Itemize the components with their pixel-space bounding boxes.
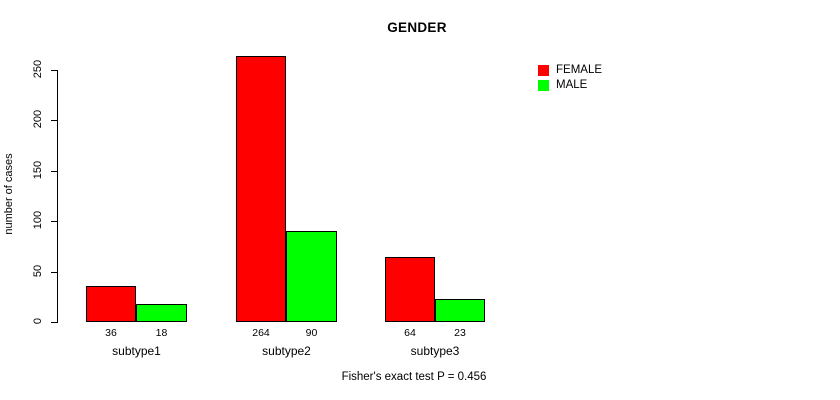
group-label-subtype1: subtype1 bbox=[86, 344, 187, 358]
y-tick-100 bbox=[51, 221, 57, 222]
bar-subtype1-male[interactable] bbox=[136, 304, 187, 322]
legend-label-male: MALE bbox=[556, 80, 587, 91]
y-tick-50 bbox=[51, 272, 57, 273]
bar-value-subtype2-female: 264 bbox=[236, 327, 286, 339]
bar-subtype2-male[interactable] bbox=[286, 231, 337, 322]
y-axis-line bbox=[57, 70, 58, 323]
bar-chart-gender: GENDER 050100150200250 number of cases 3… bbox=[0, 0, 840, 400]
legend: FEMALE MALE bbox=[538, 63, 602, 93]
bar-value-subtype1-male: 18 bbox=[136, 327, 187, 339]
chart-title-text: GENDER bbox=[387, 20, 447, 35]
legend-swatch-female bbox=[538, 65, 549, 76]
legend-label-female: FEMALE bbox=[556, 65, 602, 76]
bar-subtype3-male[interactable] bbox=[435, 299, 485, 322]
y-tick-150 bbox=[51, 171, 57, 172]
chart-title: GENDER bbox=[0, 20, 837, 35]
y-tick-0 bbox=[51, 322, 57, 323]
y-tick-label-200: 200 bbox=[32, 104, 44, 134]
y-tick-200 bbox=[51, 120, 57, 121]
statistical-test-text: Fisher's exact test P = 0.456 bbox=[342, 371, 487, 383]
bar-subtype3-female[interactable] bbox=[385, 257, 435, 322]
bar-subtype1-female[interactable] bbox=[86, 286, 136, 322]
y-tick-label-250: 250 bbox=[32, 54, 44, 84]
bar-value-subtype1-female: 36 bbox=[86, 327, 136, 339]
y-tick-label-150: 150 bbox=[32, 155, 44, 185]
y-tick-250 bbox=[51, 70, 57, 71]
group-label-subtype2: subtype2 bbox=[236, 344, 337, 358]
group-label-subtype3: subtype3 bbox=[385, 344, 485, 358]
bar-value-subtype3-male: 23 bbox=[435, 327, 485, 339]
bar-subtype2-female[interactable] bbox=[236, 56, 286, 322]
legend-swatch-male bbox=[538, 80, 549, 91]
y-tick-label-0: 0 bbox=[32, 306, 44, 336]
y-axis-title: number of cases bbox=[3, 144, 15, 244]
y-tick-label-50: 50 bbox=[32, 256, 44, 286]
statistical-test-note: Fisher's exact test P = 0.456 bbox=[0, 371, 840, 383]
legend-item-female[interactable]: FEMALE bbox=[538, 63, 602, 78]
y-tick-label-100: 100 bbox=[32, 205, 44, 235]
bar-value-subtype2-male: 90 bbox=[286, 327, 337, 339]
legend-item-male[interactable]: MALE bbox=[538, 78, 602, 93]
bar-value-subtype3-female: 64 bbox=[385, 327, 435, 339]
